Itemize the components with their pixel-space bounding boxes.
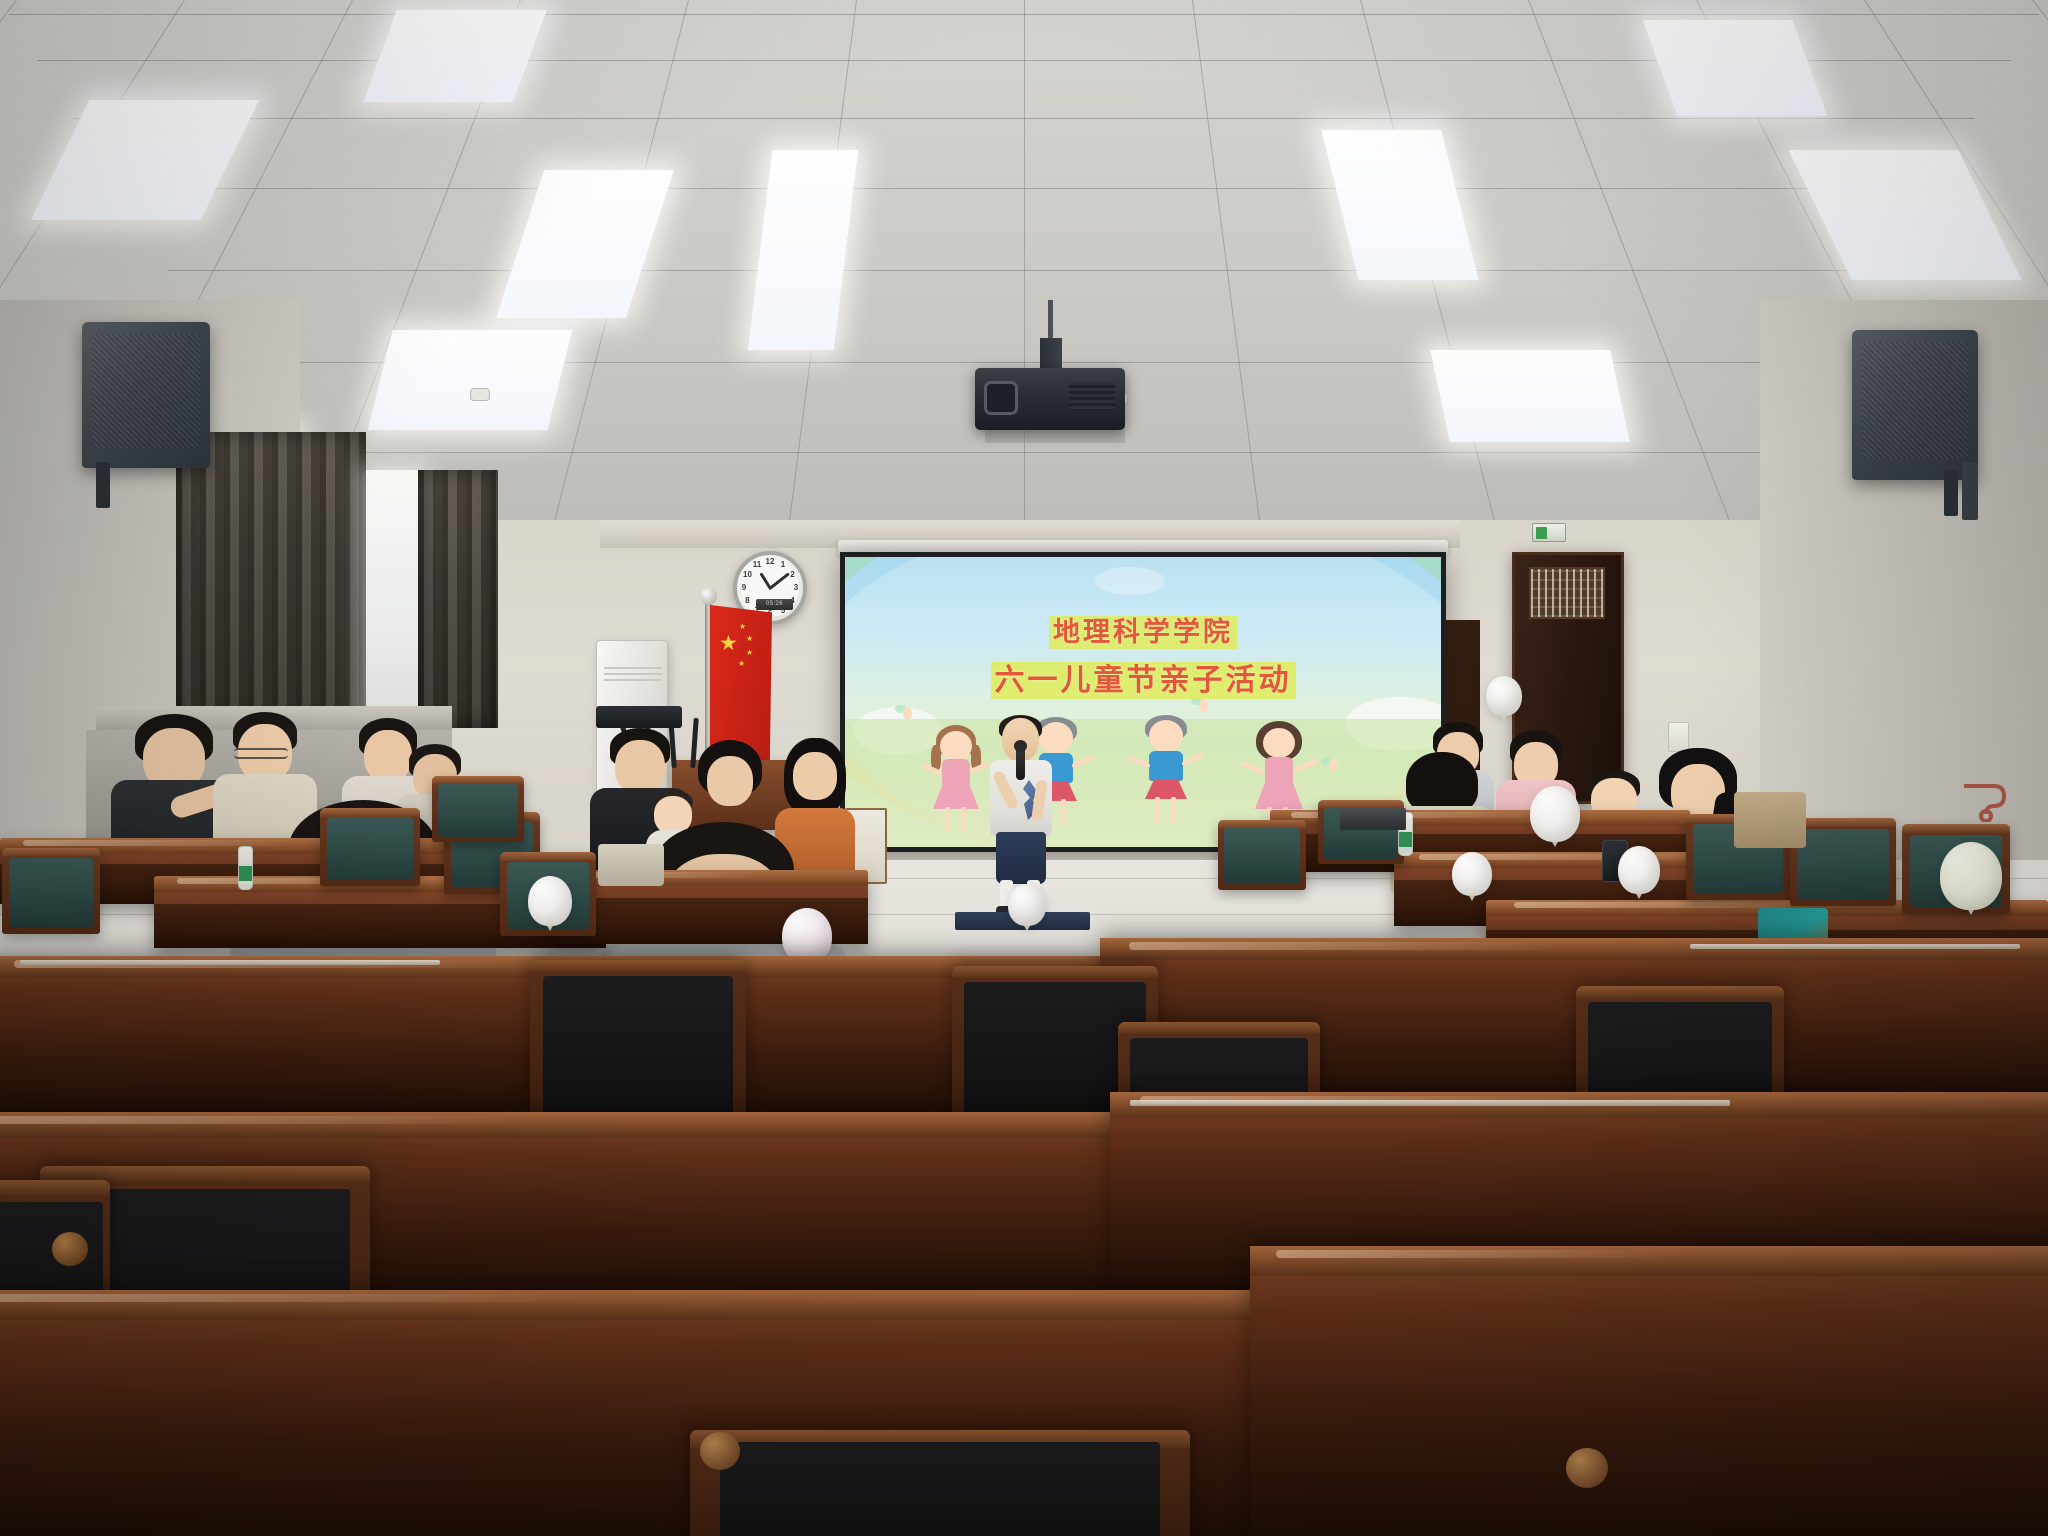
clock-numeral-8: 8	[741, 597, 753, 605]
chair-left-1	[2, 848, 100, 934]
led-panel-8	[1788, 150, 2021, 280]
clock-numeral-3: 3	[790, 584, 802, 592]
led-panel-3	[748, 150, 859, 350]
projector-mount	[1040, 338, 1062, 372]
led-panel-6	[1321, 130, 1478, 280]
desk-foreground-row-3-right	[1250, 1246, 2048, 1536]
exit-sign	[1532, 523, 1566, 542]
balloon-right-white-2	[1618, 846, 1660, 894]
desk-rail-3	[1130, 1100, 1730, 1106]
flag-star-large: ★	[719, 633, 738, 654]
ceiling-grid-line-v-9	[1192, 0, 1265, 560]
smoke-detector-1	[470, 388, 490, 401]
handbag-tan	[1734, 792, 1806, 848]
balloon-stage-white	[1008, 884, 1046, 926]
balloon-door-white	[1486, 676, 1522, 716]
handbag-left	[598, 844, 664, 886]
slide-title-line-2: 六一儿童节亲子活动	[845, 655, 1441, 699]
slide-cartoon-girl-left	[925, 725, 987, 835]
led-panel-1	[31, 100, 260, 220]
led-panel-5	[368, 330, 573, 430]
flag-star-small-3: ★	[746, 649, 753, 657]
ceiling-projector	[975, 368, 1125, 430]
speaker-plate-right	[1962, 462, 1978, 520]
microphone	[1016, 746, 1025, 780]
curtain-left-inner	[418, 470, 498, 728]
led-panel-7	[1643, 20, 1828, 116]
chair-right-5	[1218, 820, 1306, 890]
balloon-right-cream	[1940, 842, 2002, 910]
clock-numeral-11: 11	[751, 561, 763, 569]
slide-cartoon-boy-right	[1133, 715, 1199, 833]
chair-foreground-7	[690, 1430, 1190, 1536]
chair-knob-mid	[52, 1232, 88, 1266]
window-left	[366, 470, 426, 732]
exit-sign-glyph-icon	[1536, 527, 1547, 539]
flag-star-small-4: ★	[738, 660, 745, 668]
podium-console	[596, 706, 682, 728]
ceiling-grid-line-v-8	[1024, 0, 1025, 560]
door-glass-panel	[1529, 567, 1605, 619]
curtain-left-outer	[176, 432, 366, 724]
desk-rail-1	[20, 960, 440, 965]
clock-numeral-1: 1	[777, 561, 789, 569]
chair-left-4	[320, 808, 420, 886]
clock-numeral-5: 5	[777, 607, 789, 615]
chair-knob-left	[700, 1432, 740, 1470]
led-panel-4	[496, 170, 674, 318]
wall-speaker-left	[82, 322, 210, 468]
clock-numeral-12: 12	[764, 558, 776, 566]
projector-vent	[1069, 382, 1115, 410]
conference-room-photo: 05:26 121234567891011 ★ ★ ★ ★ ★	[0, 0, 2048, 1536]
speaker-bracket-right	[1944, 470, 1958, 516]
clock-numeral-9: 9	[738, 584, 750, 592]
water-bottle-left	[238, 846, 253, 890]
chair-knob-right	[1566, 1448, 1608, 1488]
balloon-right-mid	[1452, 852, 1492, 896]
laptop-on-desk	[1340, 808, 1406, 830]
balloon-left-white	[528, 876, 572, 926]
slide-title-line-1: 地理科学学院	[845, 610, 1441, 649]
balloon-right-white-1	[1530, 786, 1580, 842]
flag-star-small-2: ★	[746, 635, 753, 643]
led-panel-2	[363, 10, 546, 102]
presenter-shorts	[996, 832, 1046, 884]
clock-numeral-4: 4	[787, 597, 799, 605]
chair-left-5	[432, 776, 524, 842]
projector-lens-icon	[984, 381, 1018, 415]
speaker-bracket-left	[96, 462, 110, 508]
desk-rail-2	[1690, 944, 2020, 949]
slide-cloud-3	[1095, 567, 1165, 595]
clock-numeral-2: 2	[787, 571, 799, 579]
wall-speaker-right	[1852, 330, 1978, 480]
flag-finial	[700, 588, 717, 605]
clock-numeral-10: 10	[741, 571, 753, 579]
flag-star-small-1: ★	[739, 623, 746, 631]
eyeglasses-icon	[234, 748, 288, 759]
wall-hook-icon	[1960, 782, 2014, 822]
chair-foreground-1	[530, 960, 746, 1120]
led-panel-9	[1430, 350, 1630, 442]
